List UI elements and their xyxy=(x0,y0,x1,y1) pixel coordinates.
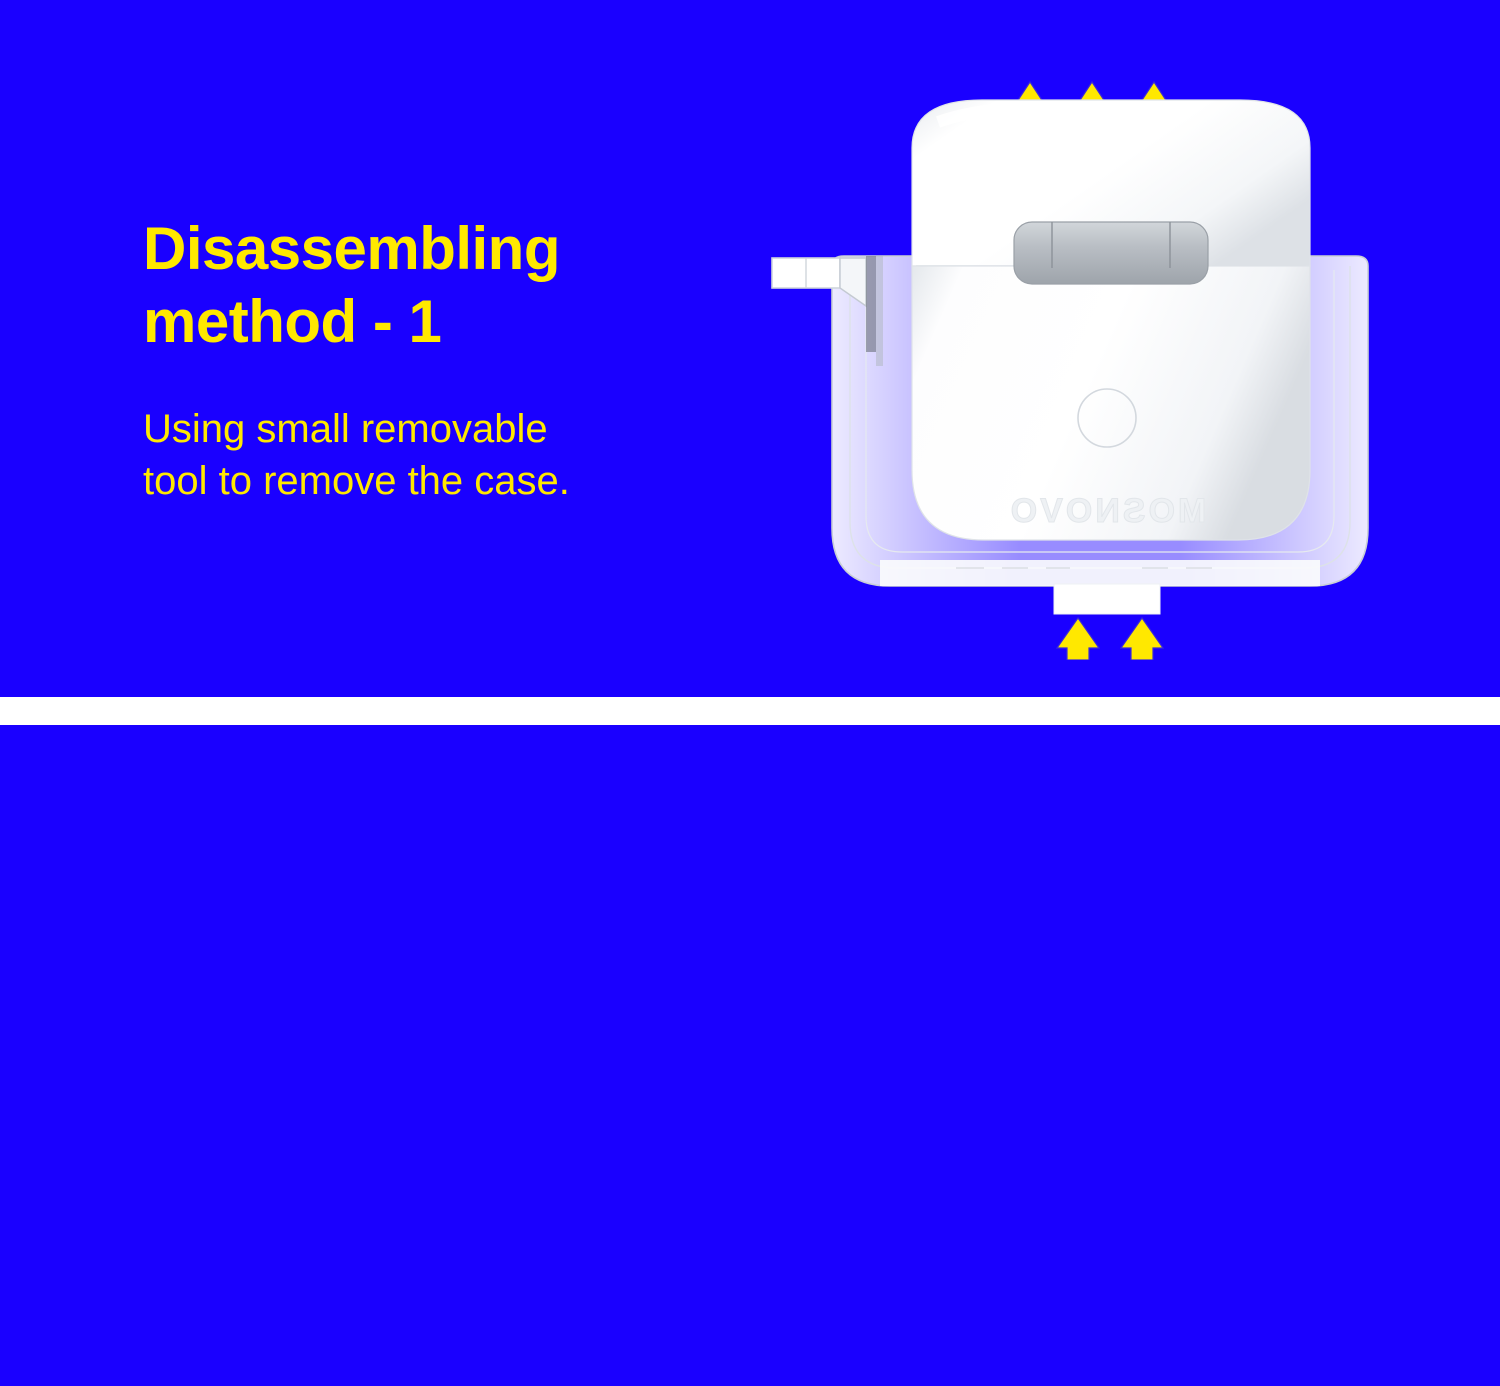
instruction-sheet: Disassembling method - 1 Using small rem… xyxy=(0,0,1500,1386)
method-1-heading: Disassembling method - 1 xyxy=(143,212,793,358)
panel-method-1: Disassembling method - 1 Using small rem… xyxy=(0,0,1500,697)
panel-method-2: Disassembling method - 2 Using charging … xyxy=(0,725,1500,1386)
panel-divider xyxy=(0,697,1500,725)
up-arrow-icon xyxy=(1121,618,1163,660)
method-1-subtext: Using small removable tool to remove the… xyxy=(143,358,793,506)
method-1-text-block: Disassembling method - 1 Using small rem… xyxy=(143,212,793,507)
up-arrow-icon xyxy=(1057,618,1099,660)
removal-tool-icon xyxy=(772,256,883,366)
up-arrow-group-bottom xyxy=(1057,618,1163,660)
shell-bottom-lip xyxy=(880,560,1320,614)
hinge-tab xyxy=(1014,222,1208,284)
method-1-illustration: MOSNOVO xyxy=(770,70,1430,660)
brand-emboss-label: MOSNOVO xyxy=(1008,492,1207,530)
